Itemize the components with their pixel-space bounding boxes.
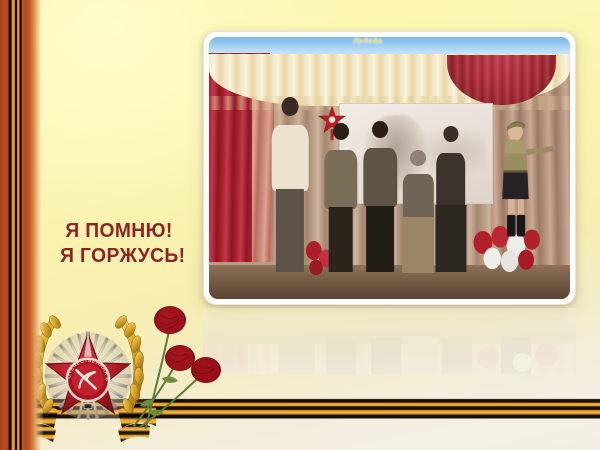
performer-head [333,123,349,140]
performer-2 [321,123,361,270]
performer-skirt [403,217,435,272]
slogan-line-1: Я ПОМНЮ! [33,218,204,243]
red-carnations [118,300,234,430]
performer-torso [324,150,357,209]
stage-photo: Победа [209,37,570,299]
stage-scene: Победа [209,37,570,299]
performer-torso [272,125,309,191]
carnation-head [154,306,186,334]
performer-torso [436,153,466,208]
performer-torso [364,148,397,208]
performer-3 [361,121,401,270]
slogan-text: Я ПОМНЮ! Я ГОРЖУСЬ! [33,218,204,268]
performer-5 [433,126,469,270]
performer-soldier-singer [483,82,555,271]
slogan-line-2: Я ГОРЖУСЬ! [41,243,205,268]
performer-skirt [435,205,466,271]
victory-day-slide: Победа [0,0,600,450]
performer-head [373,121,389,138]
performer-head [282,97,299,116]
banner-text: Победа [353,38,382,45]
performer-head-kerchief [410,150,426,166]
performer-legs [367,206,395,272]
reflection-veil [203,308,576,374]
carnation-head [165,345,195,371]
stage-photo-frame[interactable]: Победа [203,31,576,305]
performer-torso [403,174,433,220]
performer-4-elderly [400,150,436,271]
photo-reflection [203,308,576,374]
performer-head-scarf [443,126,458,142]
performer-legs [276,189,304,272]
performer-1 [267,97,314,270]
st-george-ribbon-vertical [0,0,44,450]
performer-legs [328,207,353,272]
photo-reflection-scene [203,308,576,374]
carnation-head [191,357,221,383]
